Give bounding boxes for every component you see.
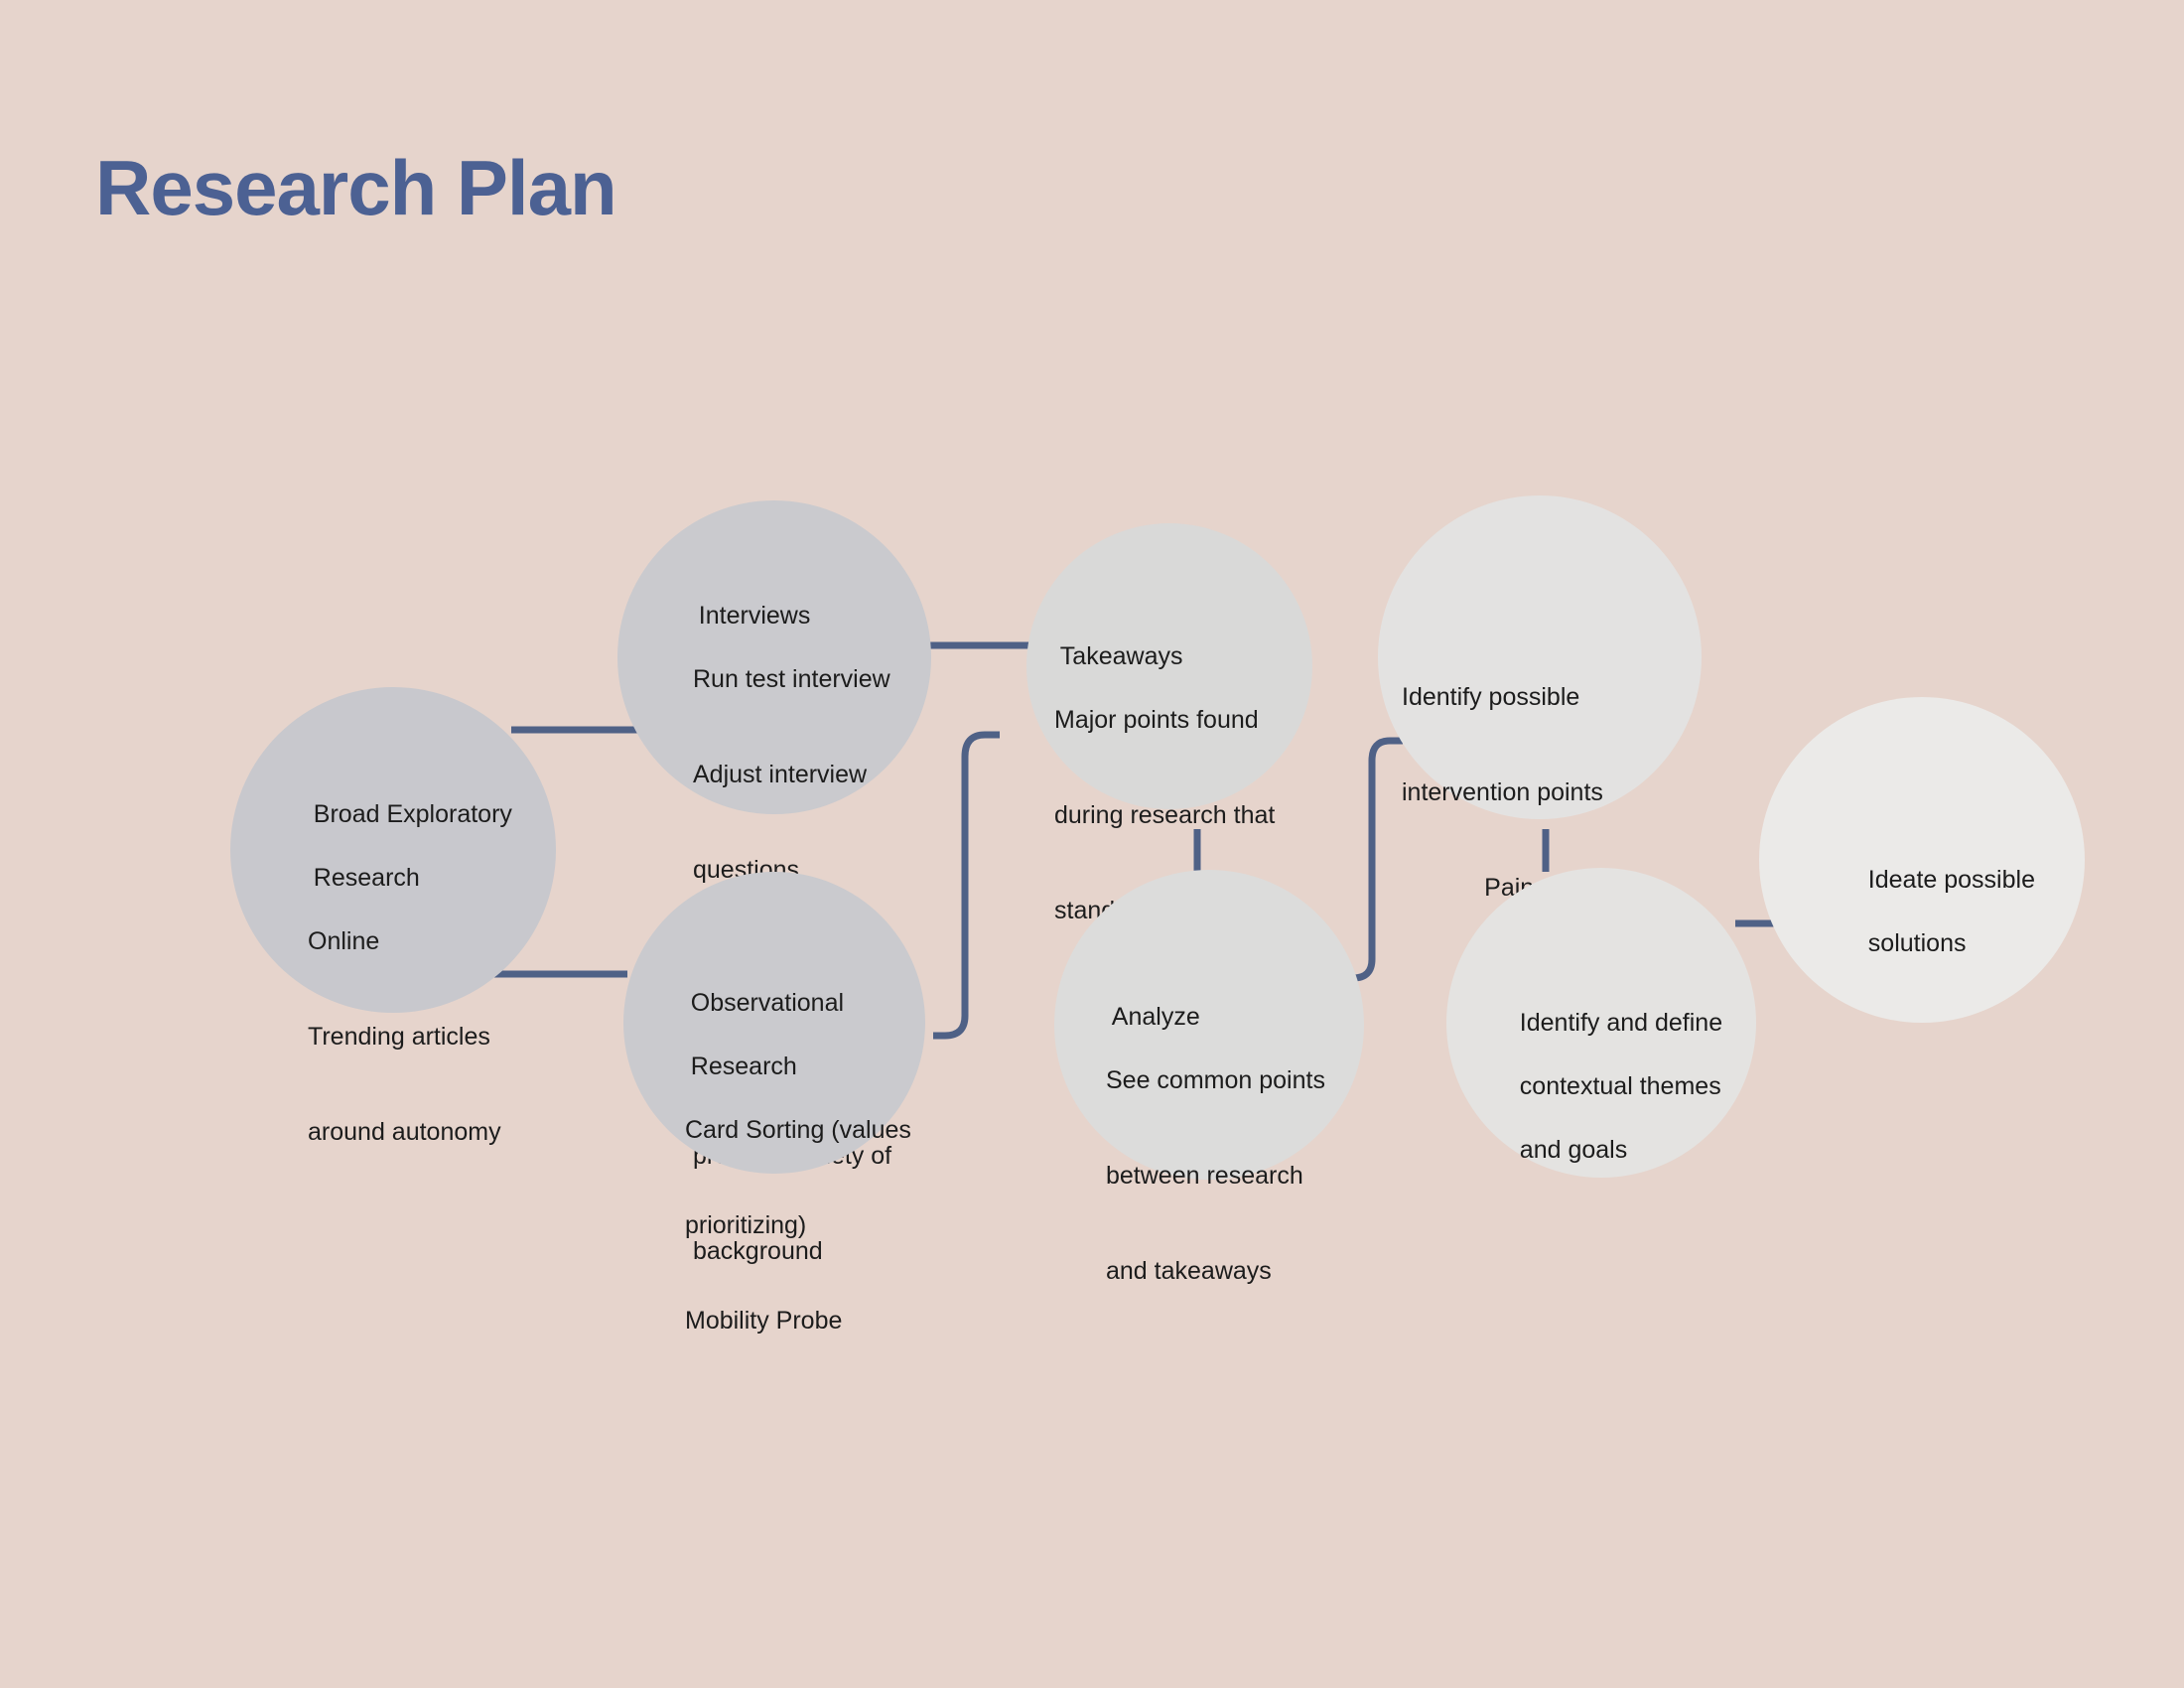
node-heading: Identify and define	[1520, 1009, 1722, 1037]
node-item: and takeaways	[1084, 1255, 1372, 1287]
node-item: Trending articles	[286, 1021, 584, 1053]
node-heading: Analyze	[1112, 1003, 1200, 1031]
node-item: Run test interview	[671, 663, 959, 695]
node-heading: Observational	[691, 989, 844, 1017]
node-heading-line2: intervention points	[1402, 776, 1690, 808]
node-label-broad-exploratory-research: Broad Exploratory Research Online Trendi…	[286, 767, 584, 1211]
node-item: Adjust interview	[671, 759, 959, 790]
node-heading-line2: Research	[314, 864, 420, 892]
node-heading: Broad Exploratory	[314, 800, 512, 828]
node-item: during research that	[1032, 799, 1320, 831]
node-item: Mobility Probe	[663, 1305, 961, 1336]
page-title: Research Plan	[95, 149, 616, 226]
node-heading: Identify possible	[1402, 681, 1690, 713]
diagram-canvas: Research Plan Broad Exploratory Research…	[0, 0, 2184, 1688]
node-label-analyze: Analyze See common points between resear…	[1084, 969, 1372, 1350]
node-item: around autonomy	[286, 1116, 584, 1148]
node-heading-line3: and goals	[1520, 1136, 1627, 1164]
node-heading-line2: Research	[691, 1053, 797, 1080]
node-item: Card Sorting (values	[663, 1114, 961, 1146]
node-label-identify-contextual-themes: Identify and define contextual themes an…	[1492, 975, 1780, 1197]
node-heading-line2: contextual themes	[1520, 1072, 1721, 1100]
node-label-ideate-possible-solutions: Ideate possible solutions	[1841, 832, 2128, 991]
node-item: Major points found	[1032, 704, 1320, 736]
node-label-observational-research: Observational Research Card Sorting (val…	[663, 955, 961, 1400]
node-heading: Ideate possible	[1868, 866, 2035, 894]
node-item: Online	[286, 925, 584, 957]
node-heading: Interviews	[699, 602, 811, 630]
node-item: prioritizing)	[663, 1209, 961, 1241]
node-heading-line2: solutions	[1868, 929, 1967, 957]
node-heading: Takeaways	[1060, 642, 1183, 670]
node-item: See common points	[1084, 1064, 1372, 1096]
node-item: between research	[1084, 1160, 1372, 1192]
connector-analyze-to-intervention-bracket	[1340, 741, 1403, 978]
